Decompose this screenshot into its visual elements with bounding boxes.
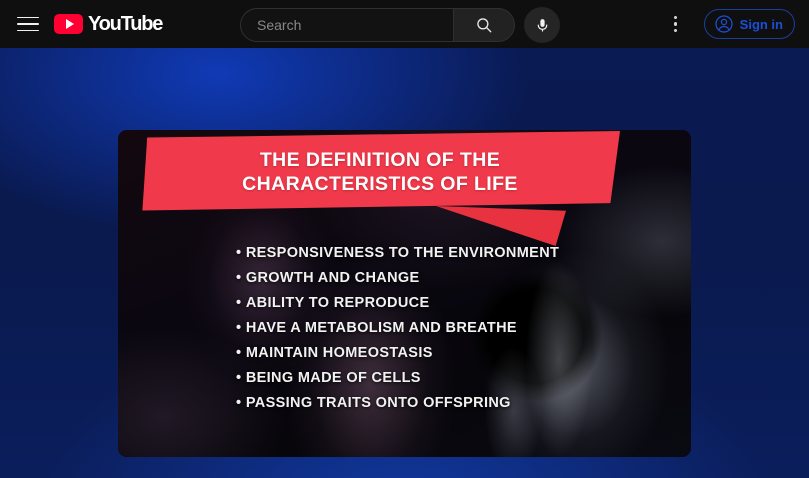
youtube-masthead: YouTube Search [0, 0, 809, 48]
hamburger-menu-icon[interactable] [16, 12, 40, 36]
search-input[interactable]: Search [240, 8, 453, 42]
more-vertical-icon[interactable] [664, 12, 688, 36]
slide-title-line-2: CHARACTERISTICS OF LIFE [242, 173, 518, 196]
video-player[interactable]: THE DEFINITION OF THE CHARACTERISTICS OF… [118, 130, 691, 457]
voice-search-button[interactable] [524, 7, 560, 43]
search-placeholder: Search [257, 17, 301, 33]
sign-in-button[interactable]: Sign in [704, 9, 795, 39]
slide-bullet-list: RESPONSIVENESS TO THE ENVIRONMENT GROWTH… [118, 245, 691, 411]
masthead-center: Search [240, 7, 560, 43]
account-circle-icon [714, 14, 734, 34]
list-item: HAVE A METABOLISM AND BREATHE [118, 320, 691, 336]
masthead-end: Sign in [664, 0, 795, 48]
list-item: PASSING TRAITS ONTO OFFSPRING [118, 395, 691, 411]
slide-title-banner: THE DEFINITION OF THE CHARACTERISTICS OF… [140, 131, 620, 213]
search-icon [475, 16, 493, 34]
youtube-watch-page: YouTube Search [0, 0, 809, 478]
search-box: Search [240, 8, 515, 42]
sign-in-label: Sign in [740, 17, 783, 32]
youtube-play-icon [54, 14, 83, 34]
microphone-icon [534, 17, 551, 34]
list-item: BEING MADE OF CELLS [118, 370, 691, 386]
youtube-logo[interactable]: YouTube [54, 13, 162, 36]
list-item: GROWTH AND CHANGE [118, 270, 691, 286]
search-button[interactable] [453, 8, 515, 42]
youtube-logo-text: YouTube [88, 13, 162, 36]
list-item: RESPONSIVENESS TO THE ENVIRONMENT [118, 245, 691, 261]
slide-title-line-1: THE DEFINITION OF THE [260, 149, 500, 172]
list-item: MAINTAIN HOMEOSTASIS [118, 345, 691, 361]
list-item: ABILITY TO REPRODUCE [118, 295, 691, 311]
masthead-start: YouTube [0, 12, 162, 36]
